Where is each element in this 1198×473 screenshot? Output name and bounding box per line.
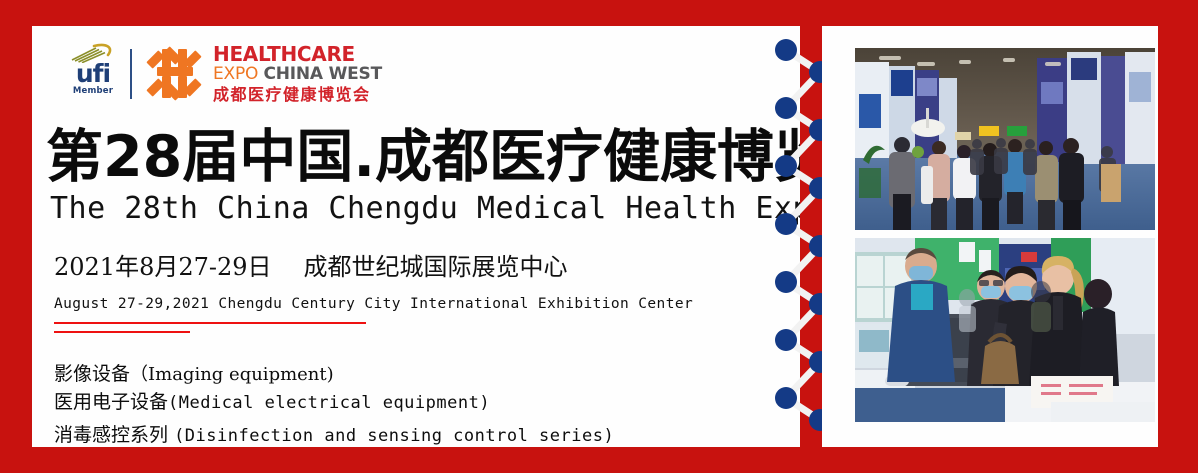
healthcare-expo-wordmark: HEALTHCARE EXPO CHINA WEST 成都医疗健康博览会 (213, 44, 382, 104)
poster-banner: ufi Member (0, 0, 1198, 473)
healthcare-expo-cross-mark-icon (144, 43, 206, 105)
logo-divider (130, 49, 132, 99)
page-title-cn: 第28届中国.成都医疗健康博览会 (46, 126, 786, 188)
booth-demonstration-photo (855, 238, 1155, 422)
category-en: （Imaging equipment) (130, 364, 334, 385)
event-date-venue-cn: 2021年8月27-29日成都世纪城国际展览中心 (54, 252, 568, 282)
ufi-member-logo: ufi Member (66, 43, 120, 105)
expo-name-line2: EXPO CHINA WEST (213, 65, 382, 84)
event-date-cn: 2021年8月27-29日 (54, 253, 272, 281)
ufi-member-label: Member (73, 86, 113, 96)
category-cn: 医用电子设备 (54, 391, 168, 413)
expo-name-line1: HEALTHCARE (213, 44, 382, 65)
category-cn: 影像设备 (54, 363, 130, 385)
category-item-medical-electrical: 医用电子设备(Medical electrical equipment) (54, 387, 490, 414)
page-title-en: The 28th China Chengdu Medical Health Ex… (50, 191, 794, 227)
category-en: (Disinfection and sensing control series… (174, 426, 614, 446)
logo-row: ufi Member (66, 38, 382, 110)
event-venue-cn: 成都世纪城国际展览中心 (304, 253, 568, 281)
category-cn: 消毒感控系列 (54, 424, 168, 446)
left-content-panel: ufi Member (32, 26, 800, 447)
category-item-disinfection: 消毒感控系列 (Disinfection and sensing control… (54, 420, 614, 447)
ufi-wordmark: ufi (76, 62, 110, 85)
expo-word: EXPO (213, 64, 258, 84)
category-item-imaging: 影像设备（Imaging equipment) (54, 359, 334, 386)
event-date-venue-en: August 27-29,2021 Chengdu Century City I… (54, 294, 693, 314)
right-photo-panel (822, 26, 1158, 447)
category-en: (Medical electrical equipment) (168, 393, 490, 413)
expo-name-cn: 成都医疗健康博览会 (213, 85, 382, 104)
accent-rule-long (54, 322, 366, 324)
exhibition-hall-aisle-photo (855, 48, 1155, 230)
expo-region: CHINA WEST (263, 64, 382, 84)
accent-rule-short (54, 331, 190, 333)
